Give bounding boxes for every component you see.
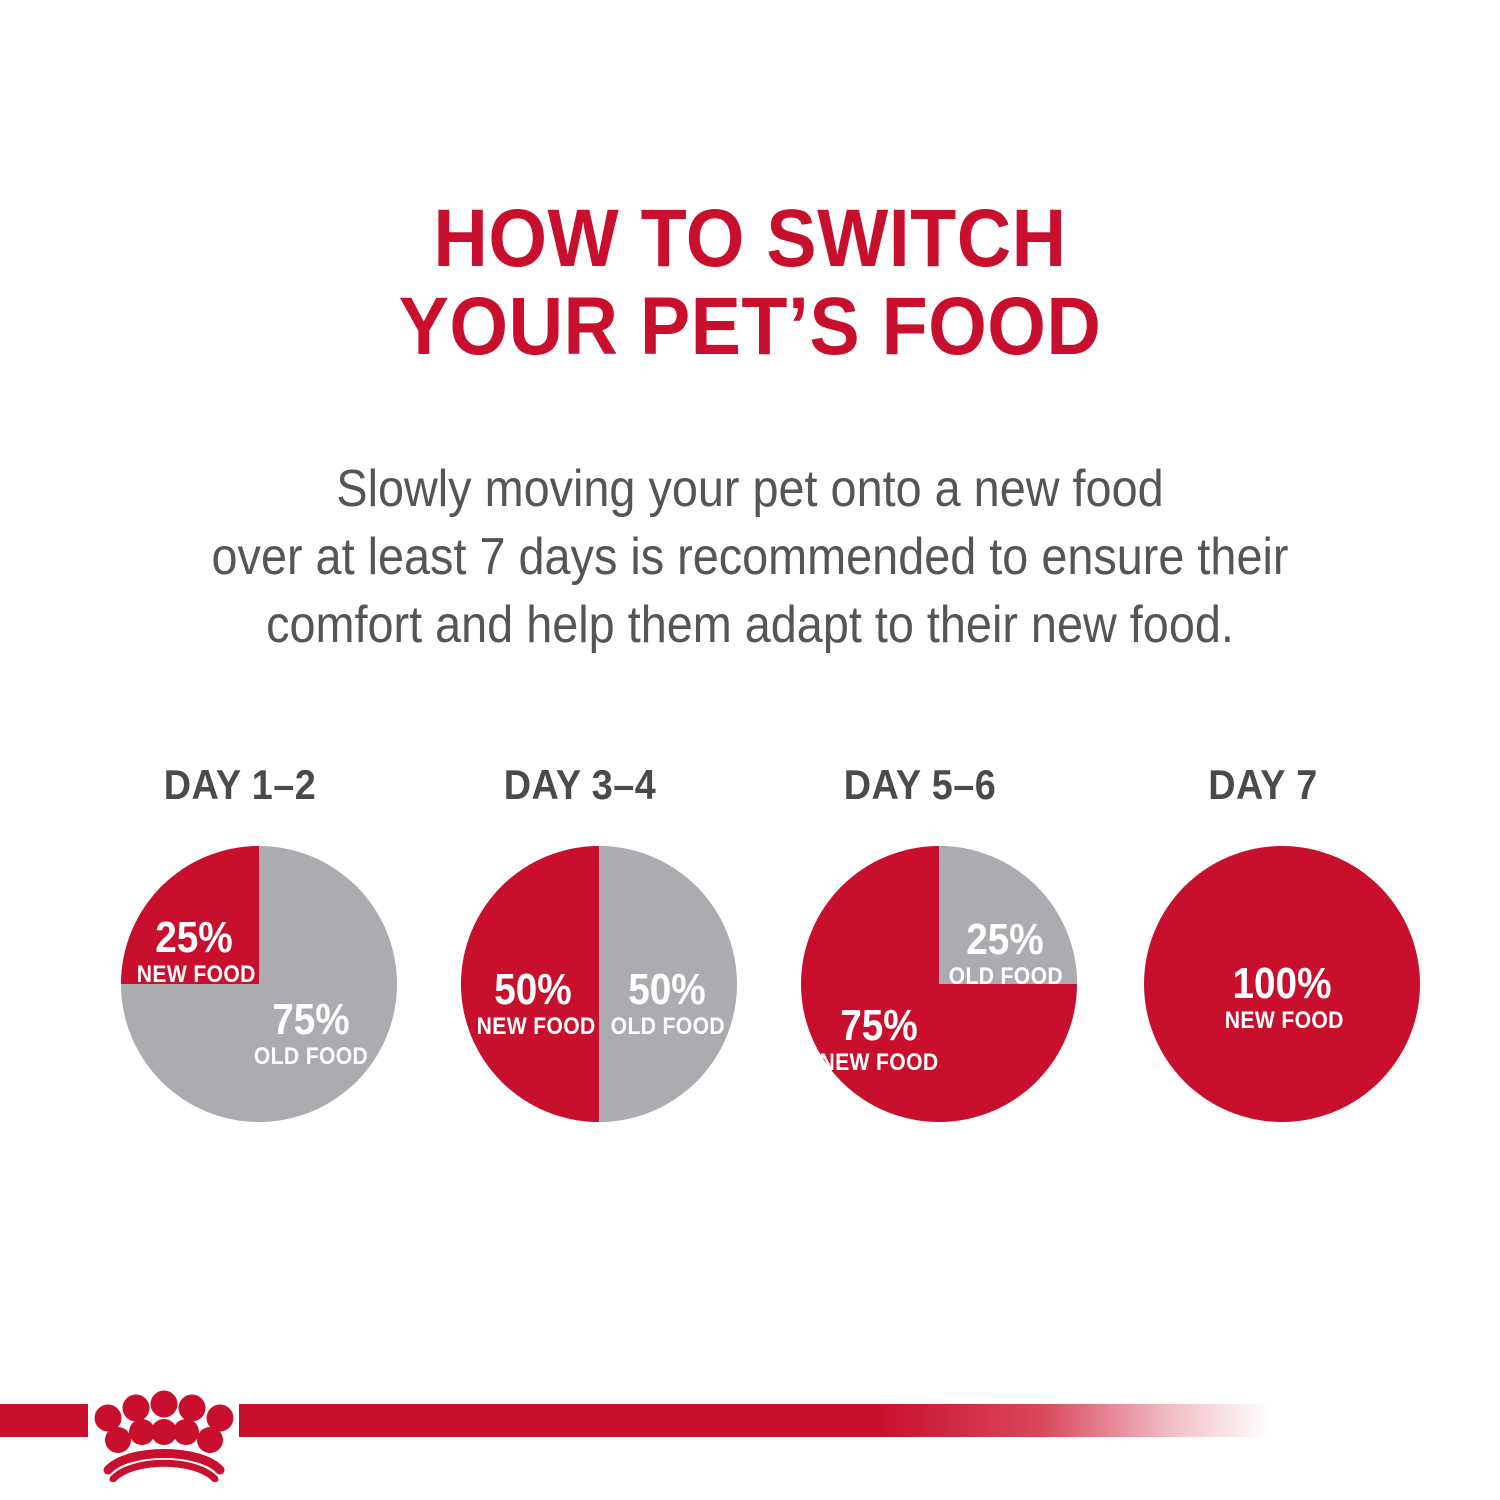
footer-rule-left: [0, 1404, 88, 1437]
pie-label-new-food-2: 50% NEW FOOD: [477, 968, 590, 1042]
pie-pct-new-food-4: 100%: [1225, 962, 1339, 1006]
chart-day-1-2: DAY 1–2 25% NEW FOOD 75% OLD FOOD: [70, 762, 410, 1182]
crown-logo-svg: [86, 1382, 242, 1482]
day-label-2: DAY 3–4: [427, 762, 733, 808]
day-label-3: DAY 5–6: [767, 762, 1073, 808]
footer: [0, 1404, 1500, 1500]
pie-caption-old-food-3: OLD FOOD: [949, 962, 1062, 992]
pie-pct-old-food-3: 25%: [949, 918, 1062, 962]
pie-label-new-food-1: 25% NEW FOOD: [137, 916, 251, 990]
pie-pct-old-food-1: 75%: [249, 998, 372, 1042]
pie-pct-old-food-2: 50%: [611, 968, 724, 1012]
pie-day-5-6: 25% OLD FOOD 75% NEW FOOD: [801, 846, 1077, 1122]
pie-caption-old-food-1: OLD FOOD: [249, 1042, 372, 1072]
page-title-line-1: HOW TO SWITCH: [60, 195, 1440, 283]
chart-day-5-6: DAY 5–6 25% OLD FOOD 75% NEW FOOD: [750, 762, 1090, 1182]
pie-day-1-2: 25% NEW FOOD 75% OLD FOOD: [121, 846, 397, 1122]
pie-day-7: 100% NEW FOOD: [1144, 846, 1420, 1122]
pie-label-old-food-1: 75% OLD FOOD: [249, 998, 372, 1072]
pie-caption-new-food-2: NEW FOOD: [477, 1012, 590, 1042]
pie-pct-new-food-3: 75%: [817, 1004, 940, 1048]
intro-line-3: comfort and help them adapt to their new…: [75, 591, 1425, 659]
page-title: HOW TO SWITCH YOUR PET’S FOOD: [60, 195, 1440, 371]
pie-label-old-food-3: 25% OLD FOOD: [949, 918, 1062, 992]
pie-pct-new-food-1: 25%: [137, 916, 251, 960]
pie-day-3-4: 50% NEW FOOD 50% OLD FOOD: [461, 846, 737, 1122]
footer-rule-right: [239, 1404, 1269, 1437]
pie-caption-new-food-4: NEW FOOD: [1225, 1006, 1339, 1036]
royal-canin-crown-icon: [86, 1382, 242, 1482]
intro-line-2: over at least 7 days is recommended to e…: [75, 523, 1425, 591]
day-label-4: DAY 7: [1110, 762, 1416, 808]
intro-line-1: Slowly moving your pet onto a new food: [75, 455, 1425, 523]
chart-day-7: DAY 7 100% NEW FOOD: [1093, 762, 1433, 1182]
chart-day-3-4: DAY 3–4 50% NEW FOOD 50% OLD FOOD: [410, 762, 750, 1182]
pie-caption-new-food-3: NEW FOOD: [817, 1048, 940, 1078]
infographic-canvas: HOW TO SWITCH YOUR PET’S FOOD Slowly mov…: [0, 0, 1500, 1500]
pie-caption-new-food-1: NEW FOOD: [137, 960, 251, 990]
pie-pct-new-food-2: 50%: [477, 968, 590, 1012]
page-title-line-2: YOUR PET’S FOOD: [60, 283, 1440, 371]
pie-label-new-food-3: 75% NEW FOOD: [817, 1004, 940, 1078]
day-label-1: DAY 1–2: [87, 762, 393, 808]
pie-label-new-food-4: 100% NEW FOOD: [1225, 962, 1339, 1036]
intro-paragraph: Slowly moving your pet onto a new food o…: [75, 455, 1425, 659]
pie-label-old-food-2: 50% OLD FOOD: [611, 968, 724, 1042]
pie-chart-row: DAY 1–2 25% NEW FOOD 75% OLD FOOD DAY 3–…: [0, 762, 1500, 1182]
pie-caption-old-food-2: OLD FOOD: [611, 1012, 724, 1042]
